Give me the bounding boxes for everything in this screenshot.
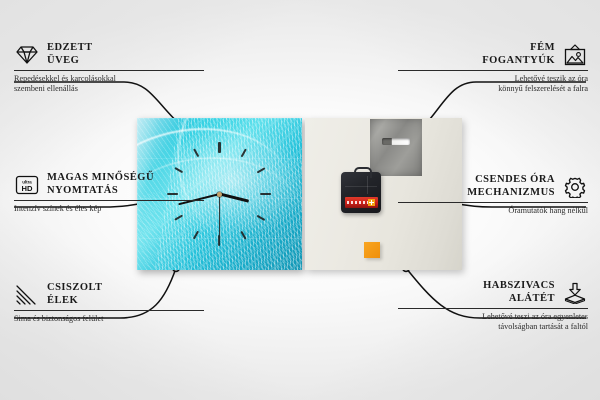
feature-subtitle: Óramutatók hang nélkül <box>398 206 588 216</box>
divider <box>398 202 588 203</box>
feature-silent-mechanism: CSENDES ÓRA MECHANIZMUS Óramutatók hang … <box>398 174 588 216</box>
hand-center-cap <box>217 192 222 197</box>
feature-high-quality-print: ultra HD MAGAS MINŐSÉGŰ NYOMTATÁS Intenz… <box>14 172 204 214</box>
second-hand <box>219 194 220 240</box>
hour-tick <box>193 231 199 240</box>
feature-polished-edges: CSISZOLT ÉLEK Sima és biztonságos felüle… <box>14 282 204 324</box>
feature-subtitle: Repedésekkel és karcolásokkal szembeni e… <box>14 74 204 94</box>
svg-text:HD: HD <box>22 184 33 193</box>
mechanism-hanging-loop <box>354 167 372 178</box>
feature-title: CSENDES ÓRA MECHANIZMUS <box>467 174 555 199</box>
divider <box>398 308 588 309</box>
hanger-slot <box>382 138 410 145</box>
hour-tick <box>256 215 265 221</box>
hour-tick <box>174 215 183 221</box>
hour-tick <box>218 142 220 153</box>
infographic-canvas: EDZETT ÜVEG Repedésekkel és karcolásokka… <box>0 0 600 400</box>
battery <box>345 197 378 208</box>
feature-metal-handles: FÉM FOGANTYÚK Lehetővé teszik az óra kön… <box>398 42 588 95</box>
picture-hanger-icon <box>562 44 588 66</box>
hour-tick <box>261 193 272 195</box>
feature-title: FÉM FOGANTYÚK <box>482 42 555 67</box>
feature-subtitle: Lehetővé teszik az óra könnyű felszerelé… <box>398 74 588 94</box>
battery-label-stripes <box>347 201 369 204</box>
feature-title: CSISZOLT ÉLEK <box>47 282 103 307</box>
foam-pad <box>364 242 380 258</box>
hour-tick <box>193 149 199 158</box>
mechanism-ridge <box>367 176 368 194</box>
divider <box>14 200 204 201</box>
divider <box>14 70 204 71</box>
clock-mechanism <box>341 172 381 213</box>
diamond-icon <box>14 44 40 66</box>
feature-subtitle: Sima és biztonságos felület <box>14 314 204 324</box>
gear-icon <box>562 176 588 198</box>
press-pad-icon <box>562 282 588 304</box>
polished-edge-icon <box>14 284 40 306</box>
feature-title: EDZETT ÜVEG <box>47 42 93 67</box>
feature-subtitle: Intenzív színek és éles kép <box>14 204 204 214</box>
feature-title: HABSZIVACS ALÁTÉT <box>483 280 555 305</box>
mechanism-seam <box>345 186 377 187</box>
divider <box>14 310 204 311</box>
battery-plus-marker <box>368 199 375 206</box>
ultra-hd-icon: ultra HD <box>14 174 40 196</box>
hour-tick <box>240 231 246 240</box>
feature-subtitle: Lehetővé teszi az óra egyenletes távolsá… <box>398 312 588 332</box>
feature-title: MAGAS MINŐSÉGŰ NYOMTATÁS <box>47 172 154 197</box>
hour-hand <box>219 192 249 202</box>
metal-hanger-bracket <box>370 119 422 176</box>
feature-tempered-glass: EDZETT ÜVEG Repedésekkel és karcolásokka… <box>14 42 204 95</box>
hour-tick <box>256 167 265 173</box>
feature-foam-pad: HABSZIVACS ALÁTÉT Lehetővé teszi az óra … <box>398 280 588 333</box>
divider <box>398 70 588 71</box>
hour-tick <box>240 149 246 158</box>
